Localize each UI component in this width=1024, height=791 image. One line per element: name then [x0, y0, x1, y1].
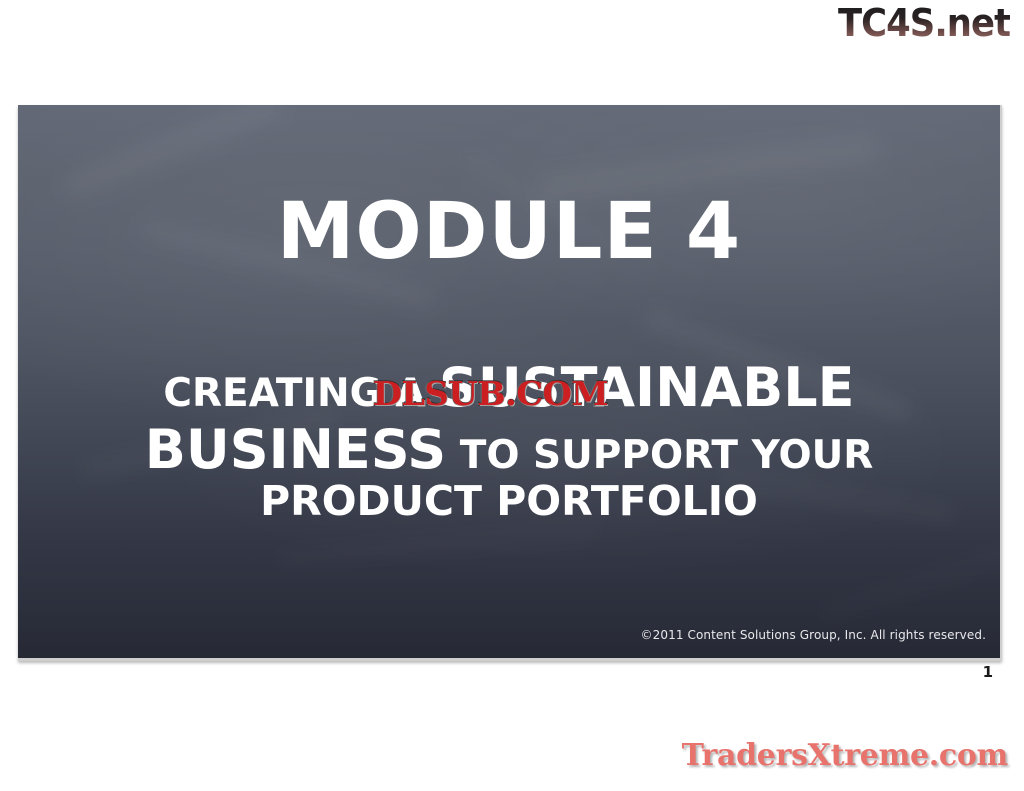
chalk-smudge — [278, 521, 599, 569]
slide-copyright: ©2011 Content Solutions Group, Inc. All … — [641, 628, 986, 642]
slide-module-title: MODULE 4 — [18, 193, 1000, 271]
tradersxtreme-watermark: TradersXtreme.com — [682, 738, 1008, 773]
subtitle-line-2-tail: TO SUPPORT YOUR — [446, 433, 873, 478]
page-number: 1 — [0, 663, 993, 681]
chalk-smudge — [820, 545, 1000, 624]
presentation-page: TC4S.net MODULE 4 CREATING A SUSTAINABLE… — [0, 0, 1024, 791]
subtitle-line-2: BUSINESS TO SUPPORT YOUR — [58, 422, 960, 478]
tc4s-logo: TC4S.net — [838, 4, 1010, 42]
chalk-smudge — [62, 105, 285, 201]
subtitle-line-3: PRODUCT PORTFOLIO — [58, 480, 960, 523]
subtitle-line-2-emphasis: BUSINESS — [145, 418, 446, 481]
dlsub-watermark-stamp: DLSUB.COM — [373, 374, 608, 413]
